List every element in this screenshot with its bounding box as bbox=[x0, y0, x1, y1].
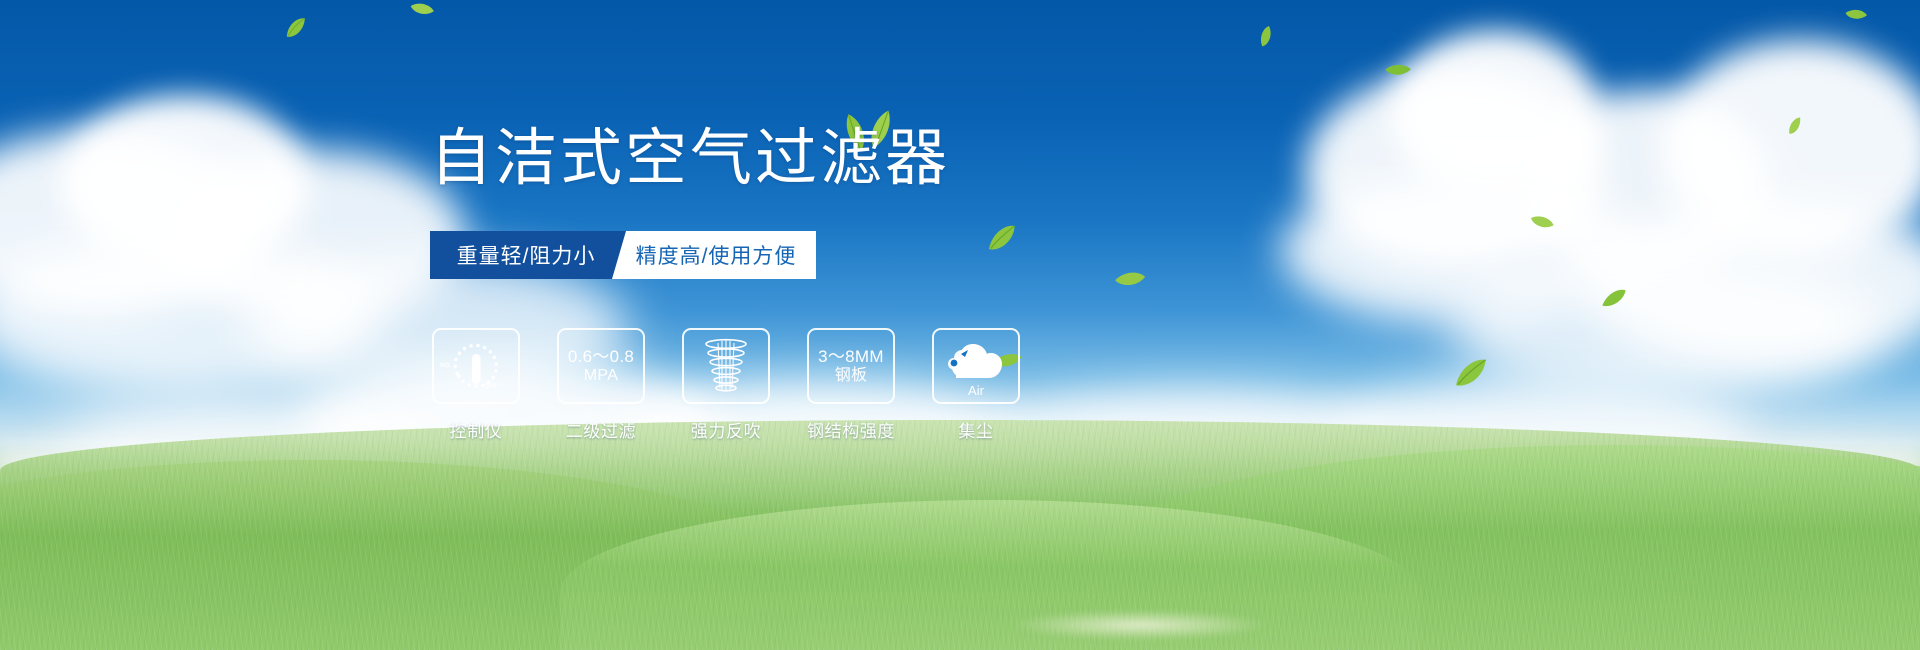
feature-tabs: 重量轻/阻力小 精度高/使用方便 bbox=[430, 231, 816, 279]
cloud-air-icon: Air bbox=[945, 340, 1007, 392]
feature-item-steel-strength[interactable]: 3〜8MM 钢板 钢结构强度 bbox=[807, 328, 895, 442]
banner-content: 自洁式空气过滤器 重量轻/阻力小 精度高/使用方便 bbox=[0, 0, 1920, 650]
feature-icon-list: NO OFF 控制仪 0.6〜0.8 MPA 二级过滤 bbox=[432, 328, 1020, 442]
pressure-range: 0.6〜0.8 bbox=[568, 347, 634, 366]
feature-box: NO OFF bbox=[432, 328, 520, 404]
feature-box: 3〜8MM 钢板 bbox=[807, 328, 895, 404]
product-hero-banner: 自洁式空气过滤器 重量轻/阻力小 精度高/使用方便 bbox=[0, 0, 1920, 650]
tab-weight-resistance[interactable]: 重量轻/阻力小 bbox=[430, 231, 626, 279]
feature-box: 0.6〜0.8 MPA bbox=[557, 328, 645, 404]
feature-caption: 强力反吹 bbox=[691, 417, 761, 442]
feature-item-strong-backflush[interactable]: 强力反吹 bbox=[682, 328, 770, 442]
page-title: 自洁式空气过滤器 bbox=[430, 128, 950, 190]
coil-spring-icon bbox=[697, 336, 755, 396]
tab-label: 精度高/使用方便 bbox=[636, 240, 797, 270]
feature-item-dust-collection[interactable]: Air 集尘 bbox=[932, 328, 1020, 442]
tab-precision-convenience[interactable]: 精度高/使用方便 bbox=[612, 231, 816, 279]
tab-label: 重量轻/阻力小 bbox=[457, 240, 596, 270]
feature-caption: 二级过滤 bbox=[566, 417, 636, 442]
feature-item-two-stage-filter[interactable]: 0.6〜0.8 MPA 二级过滤 bbox=[557, 328, 645, 442]
steel-material: 钢板 bbox=[818, 367, 884, 386]
dial-gauge-icon: NO OFF bbox=[440, 335, 512, 397]
dial-label-off: OFF bbox=[484, 383, 498, 390]
pressure-unit: MPA bbox=[568, 367, 634, 386]
feature-box: Air bbox=[932, 328, 1020, 404]
steel-thickness: 3〜8MM bbox=[818, 347, 884, 366]
feature-item-controller[interactable]: NO OFF 控制仪 bbox=[432, 328, 520, 442]
feature-box bbox=[682, 328, 770, 404]
feature-caption: 钢结构强度 bbox=[807, 417, 895, 442]
dial-label-on: NO bbox=[440, 362, 450, 369]
pressure-text-icon: 0.6〜0.8 MPA bbox=[568, 347, 634, 386]
steel-plate-text-icon: 3〜8MM 钢板 bbox=[818, 347, 884, 386]
cloud-air-label: Air bbox=[945, 383, 1007, 398]
feature-caption: 控制仪 bbox=[450, 417, 503, 442]
feature-caption: 集尘 bbox=[958, 417, 993, 442]
